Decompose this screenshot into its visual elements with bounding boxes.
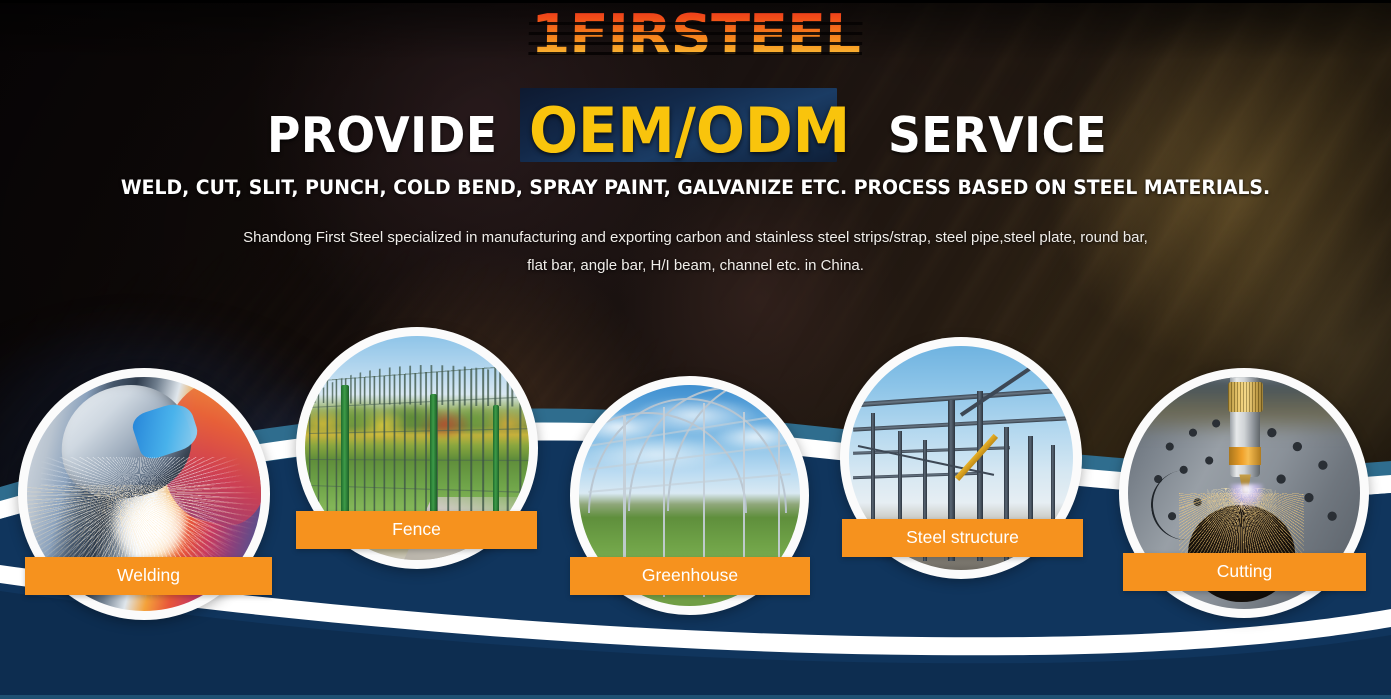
- card-label-text: Greenhouse: [642, 567, 738, 585]
- headline: PROVIDEOEM/ODMSERVICE: [0, 94, 1391, 167]
- service-card-cutting[interactable]: Cutting: [1119, 368, 1369, 618]
- service-card-greenhouse[interactable]: Greenhouse: [570, 376, 809, 615]
- description-line-2: flat bar, angle bar, H/I beam, channel e…: [186, 252, 1206, 280]
- steel-beam-2: [854, 417, 1069, 432]
- bottom-edge-line: [0, 695, 1391, 699]
- brand-logo-text: 1FIRSTEEL: [530, 8, 860, 64]
- plasma-arc-glow: [1230, 484, 1262, 512]
- plasma-torch-knurled-collar: [1228, 382, 1263, 412]
- headline-highlight: OEM/ODM: [529, 94, 850, 167]
- brand-logo: 1FIRSTEEL: [0, 8, 1391, 64]
- service-card-steel-structure[interactable]: Steel structure: [840, 337, 1082, 579]
- card-label-welding[interactable]: Welding: [25, 557, 272, 595]
- steel-brace-1: [960, 346, 1070, 417]
- steel-beam-1: [854, 388, 1069, 408]
- card-label-steel-structure[interactable]: Steel structure: [842, 519, 1083, 557]
- plasma-torch-band: [1229, 447, 1261, 466]
- card-label-greenhouse[interactable]: Greenhouse: [570, 557, 810, 595]
- headline-before: PROVIDE: [267, 107, 497, 164]
- card-label-cutting[interactable]: Cutting: [1123, 553, 1366, 591]
- card-label-text: Fence: [392, 521, 441, 539]
- oem-odm-service-banner: 1FIRSTEEL PROVIDEOEM/ODMSERVICE WELD, CU…: [0, 0, 1391, 699]
- description-line-1: Shandong First Steel specialized in manu…: [186, 224, 1206, 252]
- card-label-fence[interactable]: Fence: [296, 511, 537, 549]
- company-description: Shandong First Steel specialized in manu…: [186, 224, 1206, 280]
- card-label-text: Steel structure: [906, 529, 1019, 547]
- card-label-text: Welding: [117, 567, 180, 585]
- card-label-text: Cutting: [1217, 563, 1272, 581]
- service-card-welding[interactable]: Welding: [18, 368, 270, 620]
- headline-after: SERVICE: [888, 107, 1107, 164]
- service-card-fence[interactable]: Fence: [296, 327, 538, 569]
- subheadline: WELD, CUT, SLIT, PUNCH, COLD BEND, SPRAY…: [24, 176, 1366, 199]
